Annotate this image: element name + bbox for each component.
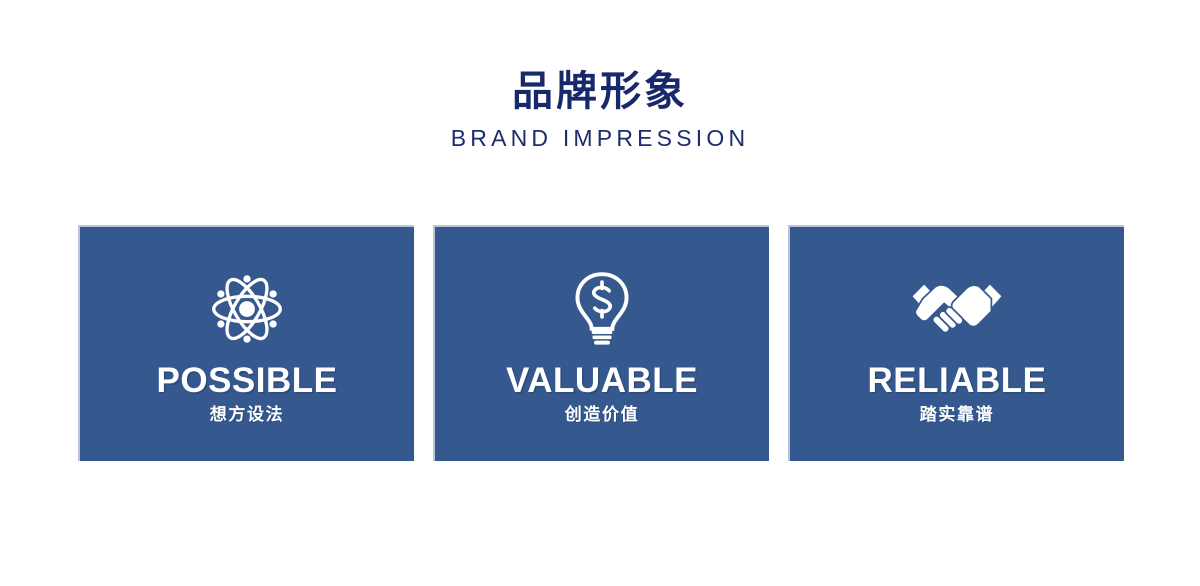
value-card-subtitle: 想方设法 xyxy=(210,407,284,424)
value-card-possible[interactable]: POSSIBLE 想方设法 xyxy=(78,225,414,461)
value-card-subtitle: 创造价值 xyxy=(565,407,639,424)
value-cards-row: POSSIBLE 想方设法 xyxy=(78,225,1124,461)
value-card-title: RELIABLE xyxy=(868,363,1047,398)
lightbulb-dollar-icon xyxy=(571,271,633,347)
value-card-valuable[interactable]: VALUABLE 创造价值 xyxy=(433,225,769,461)
page-header: 品牌形象 BRAND IMPRESSION xyxy=(0,68,1200,151)
handshake-icon xyxy=(909,271,1005,347)
value-card-title: VALUABLE xyxy=(506,363,698,398)
brand-impression-page: 品牌形象 BRAND IMPRESSION xyxy=(0,0,1200,586)
value-card-subtitle: 踏实靠谱 xyxy=(920,407,994,424)
page-title-en: BRAND IMPRESSION xyxy=(0,126,1200,151)
page-title-cn: 品牌形象 xyxy=(0,68,1200,115)
value-card-reliable[interactable]: RELIABLE 踏实靠谱 xyxy=(788,225,1124,461)
value-card-title: POSSIBLE xyxy=(157,363,338,398)
atom-icon xyxy=(207,271,287,347)
